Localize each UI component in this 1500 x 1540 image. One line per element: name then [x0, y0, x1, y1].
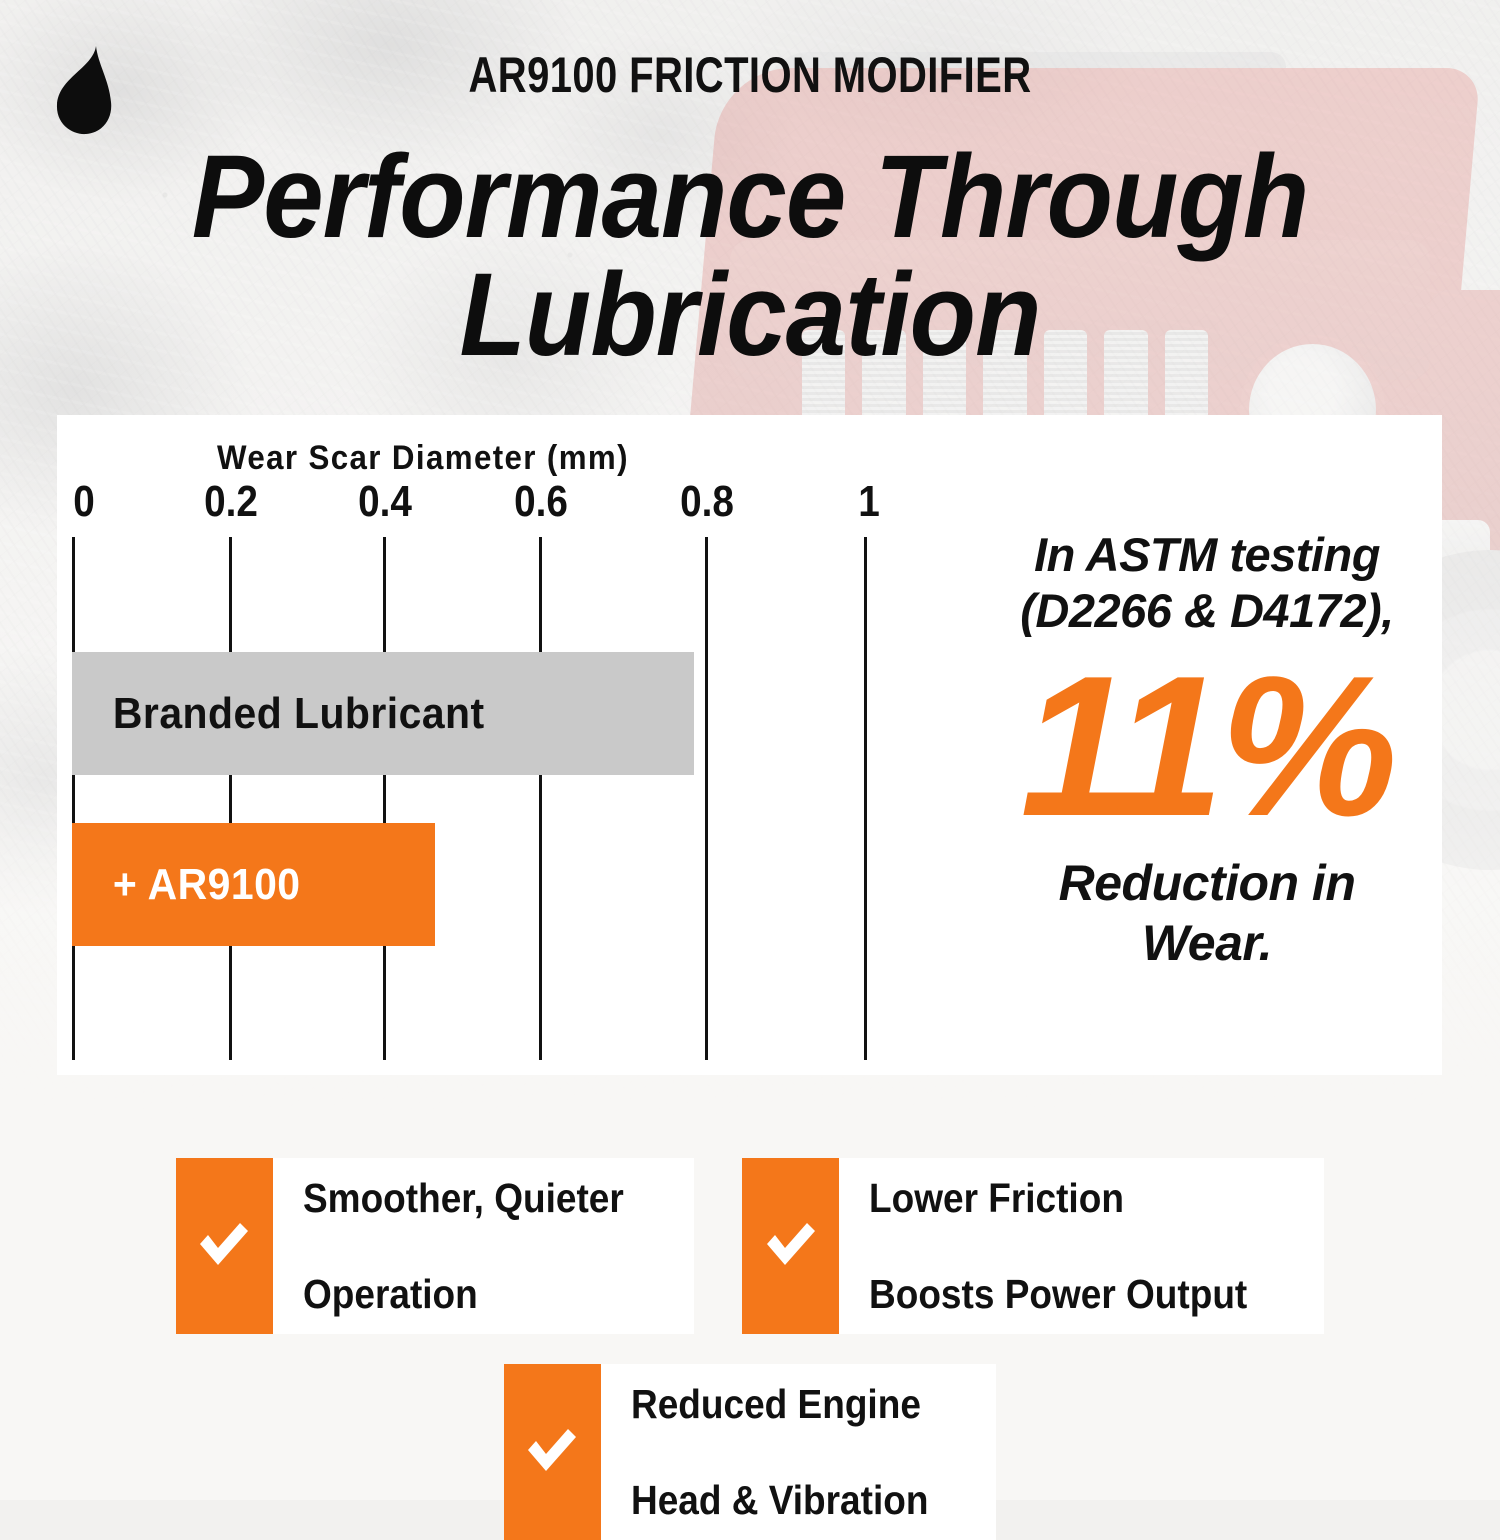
reduction-caption-2: Wear. — [987, 913, 1427, 973]
reduction-caption-1: Reduction in — [987, 853, 1427, 913]
benefit-card-smoother-quieter-operation[interactable]: Smoother, Quieter Operation — [176, 1158, 694, 1334]
astm-line-2: (D2266 & D4172), — [987, 583, 1427, 639]
benefits-section: Smoother, Quieter Operation Lower Fricti… — [0, 1158, 1500, 1540]
benefit-card-lower-friction-boosts-power-output[interactable]: Lower Friction Boosts Power Output — [742, 1158, 1324, 1334]
benefit-line-1: Reduced Engine — [631, 1380, 928, 1428]
benefit-line-2: Boosts Power Output — [869, 1270, 1247, 1318]
benefit-text: Lower Friction Boosts Power Output — [839, 1158, 1324, 1334]
gridline-0.6 — [539, 537, 542, 1060]
benefit-card-reduced-engine-head-and-vibration[interactable]: Reduced Engine Head & Vibration — [504, 1364, 997, 1540]
astm-stat-block: In ASTM testing (D2266 & D4172), 11% Red… — [987, 527, 1427, 973]
x-tick-label-0: 0 — [73, 477, 95, 527]
chart-card: Wear Scar Diameter (mm) 0 0.2 0.4 0.6 0.… — [57, 415, 1442, 1075]
reduction-percentage: 11% — [987, 647, 1427, 847]
gridline-0.8 — [705, 537, 708, 1060]
benefits-row-2: Reduced Engine Head & Vibration — [0, 1364, 1500, 1540]
benefit-line-2: Operation — [303, 1270, 624, 1318]
x-tick-label-1: 1 — [858, 477, 880, 527]
x-tick-label-0.2: 0.2 — [204, 477, 258, 527]
gridline-0.4 — [383, 537, 386, 1060]
astm-line-1: In ASTM testing — [987, 527, 1427, 583]
gridline-1 — [864, 537, 867, 1060]
bar-branded-lubricant: Branded Lubricant — [72, 652, 694, 775]
gridline-0.2 — [229, 537, 232, 1060]
x-tick-label-0.8: 0.8 — [680, 477, 734, 527]
benefit-line-2: Head & Vibration — [631, 1476, 928, 1524]
x-tick-label-0.4: 0.4 — [358, 477, 412, 527]
benefit-line-1: Lower Friction — [869, 1174, 1247, 1222]
benefit-text: Reduced Engine Head & Vibration — [601, 1364, 997, 1540]
bar-label-branded-lubricant: Branded Lubricant — [72, 689, 485, 739]
bar-label-ar9100: + AR9100 — [72, 860, 301, 910]
page-title: Performance Through Lubrication — [0, 138, 1500, 374]
eyebrow-title: AR9100 FRICTION MODIFIER — [150, 46, 1350, 104]
headline-line-1: Performance Through — [60, 138, 1440, 256]
x-tick-label-0.6: 0.6 — [514, 477, 568, 527]
benefit-line-1: Smoother, Quieter — [303, 1174, 624, 1222]
check-icon — [504, 1364, 601, 1540]
benefits-row-1: Smoother, Quieter Operation Lower Fricti… — [0, 1158, 1500, 1334]
headline-line-2: Lubrication — [60, 256, 1440, 374]
benefit-text: Smoother, Quieter Operation — [273, 1158, 694, 1334]
check-icon — [176, 1158, 273, 1334]
check-icon — [742, 1158, 839, 1334]
oil-drop-icon — [52, 44, 116, 136]
bar-ar9100: + AR9100 — [72, 823, 435, 946]
gridline-0 — [72, 537, 75, 1060]
